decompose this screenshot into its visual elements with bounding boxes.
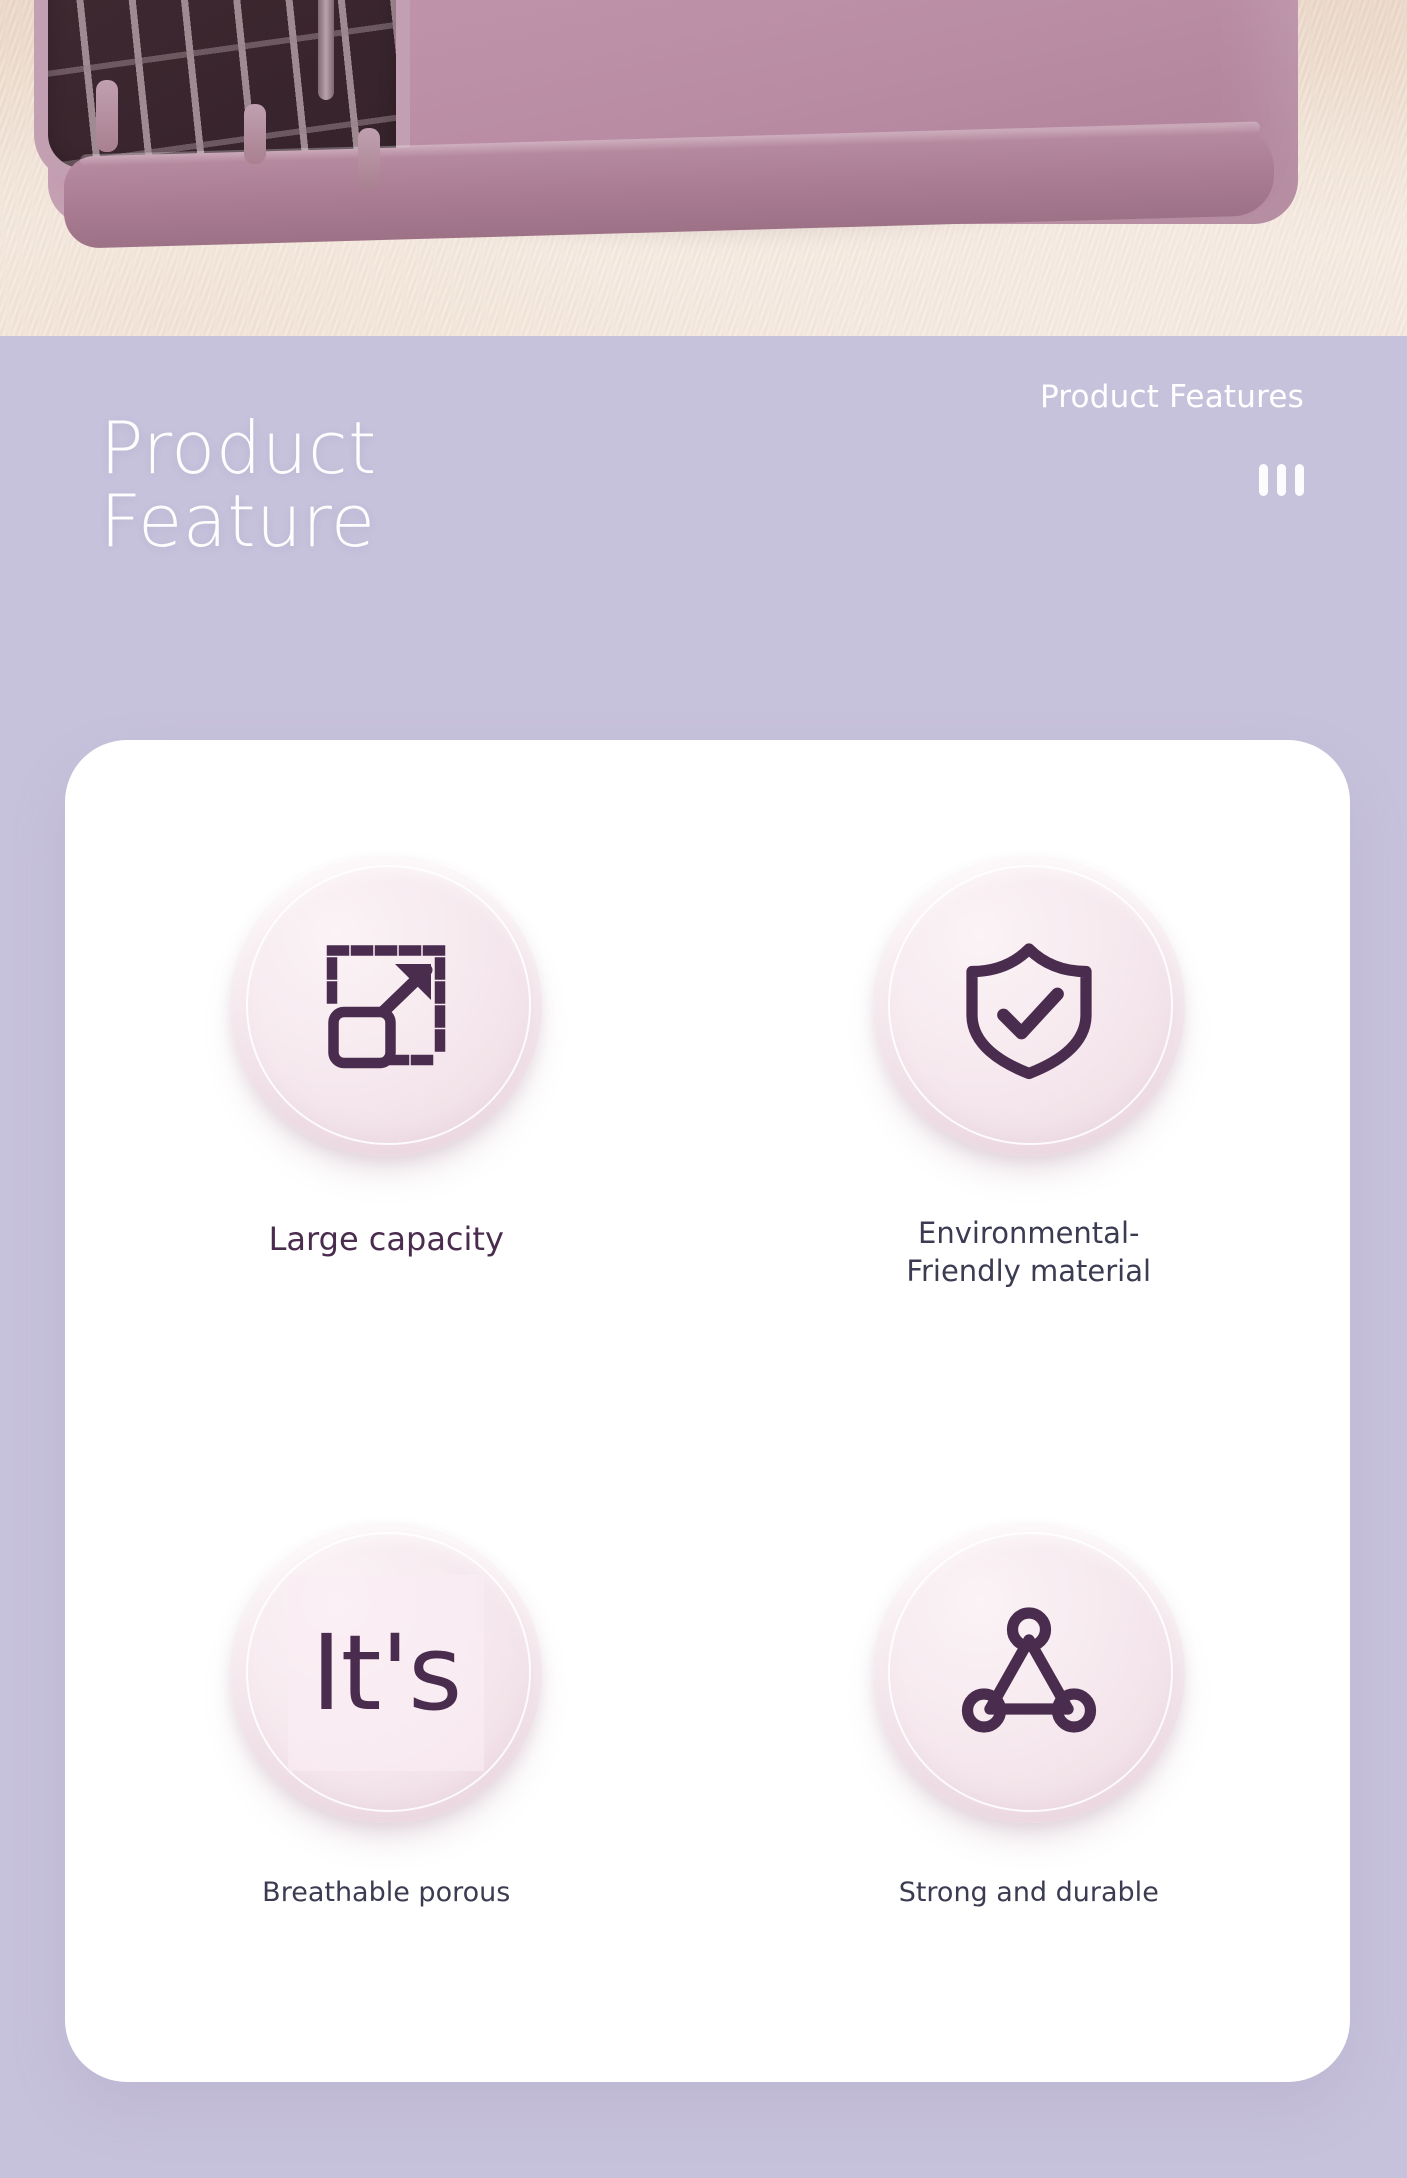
feature-item-breathable-porous[interactable]: It's Breathable porous bbox=[65, 1411, 708, 2082]
bar-mark-icon bbox=[1259, 464, 1268, 496]
feature-item-strong-durable[interactable]: Strong and durable bbox=[708, 1411, 1351, 2082]
bar-mark-icon bbox=[1295, 464, 1304, 496]
feature-card: Large capacity Environmental- Friendly m… bbox=[65, 740, 1350, 2082]
expand-arrow-icon bbox=[230, 856, 542, 1156]
bar-mark-icon bbox=[1277, 464, 1286, 496]
section-eyebrow-label: Product Features bbox=[1040, 379, 1304, 415]
carrier-door-handle bbox=[318, 0, 334, 100]
text-glyph-icon: It's bbox=[230, 1523, 542, 1823]
feature-label: Environmental- Friendly material bbox=[906, 1214, 1151, 1291]
carrier-foot bbox=[358, 128, 380, 190]
feature-label: Large capacity bbox=[269, 1218, 504, 1260]
decorative-bars bbox=[1259, 464, 1304, 496]
feature-label: Breathable porous bbox=[262, 1875, 510, 1911]
hero-product-photo bbox=[0, 0, 1407, 336]
page-title-line1: Product bbox=[100, 406, 377, 490]
feature-grid: Large capacity Environmental- Friendly m… bbox=[65, 740, 1350, 2082]
feature-label: Strong and durable bbox=[899, 1875, 1159, 1911]
product-feature-page: Product Feature Product Features bbox=[0, 0, 1407, 2178]
carrier-foot bbox=[244, 104, 266, 164]
triangle-nodes-icon bbox=[873, 1523, 1185, 1823]
glyph-text: It's bbox=[288, 1575, 484, 1771]
page-title-line2: Feature bbox=[100, 485, 377, 558]
carrier-foot bbox=[96, 80, 118, 152]
feature-item-eco-material[interactable]: Environmental- Friendly material bbox=[708, 740, 1351, 1411]
feature-item-large-capacity[interactable]: Large capacity bbox=[65, 740, 708, 1411]
page-title: Product Feature bbox=[100, 412, 377, 559]
shield-check-icon bbox=[873, 856, 1185, 1156]
section-header: Product Feature Product Features bbox=[0, 336, 1407, 740]
